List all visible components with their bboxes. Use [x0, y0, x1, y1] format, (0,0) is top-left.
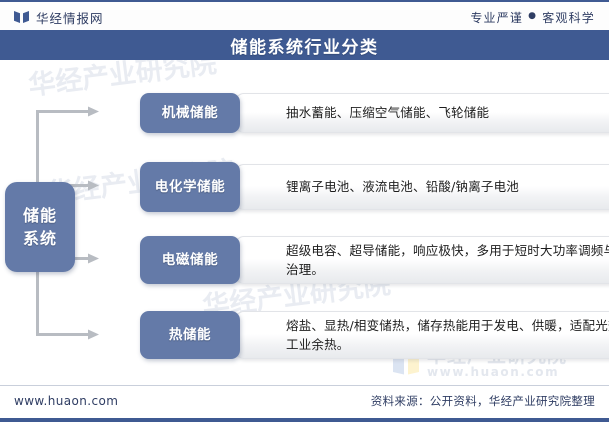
slogan-left: 专业严谨	[470, 9, 523, 26]
footer-source-note: 资料来源：公开资料，华经产业研究院整理	[371, 393, 595, 409]
category-description-panel: 超级电容、超导储能，响应极快，多用于短时大功率调频与电能质量治理。	[235, 236, 609, 284]
page-title: 储能系统行业分类	[231, 33, 379, 58]
category-description-panel: 锂离子电池、液流电池、铅酸/钠离子电池	[235, 164, 609, 210]
category-description: 熔盐、显热/相变储热，储存热能用于发电、供暖，适配光热电站与工业余热。	[236, 316, 609, 355]
category-label-thermal[interactable]: 热储能	[140, 311, 240, 359]
category-row: 抽水蓄能、压缩空气储能、飞轮储能 机械储能	[140, 93, 585, 133]
category-description: 锂离子电池、液流电池、铅酸/钠离子电池	[236, 177, 533, 196]
root-node-label-line1: 储能	[23, 204, 57, 227]
huaon-book-logo-icon	[14, 10, 29, 24]
category-label-mechanical[interactable]: 机械储能	[140, 93, 240, 133]
category-label-text: 机械储能	[156, 104, 224, 122]
category-label-text: 电磁储能	[156, 251, 224, 269]
category-row: 锂离子电池、液流电池、铅酸/钠离子电池 电化学储能	[140, 162, 585, 212]
category-row: 熔盐、显热/相变储热，储存热能用于发电、供暖，适配光热电站与工业余热。 热储能	[140, 311, 585, 359]
diagram-canvas: 华经产业研究院 华经产业研究院 华经产业研究院 华经产业研究院 华经产业研究院 …	[0, 60, 609, 385]
site-slogan: 专业严谨 ● 客观科学	[470, 9, 595, 26]
category-label-text: 热储能	[163, 326, 217, 344]
slogan-dot-icon: ●	[528, 12, 537, 21]
category-description: 抽水蓄能、压缩空气储能、飞轮储能	[236, 103, 503, 122]
title-bar: 储能系统行业分类	[0, 30, 609, 60]
category-description: 超级电容、超导储能，响应极快，多用于短时大功率调频与电能质量治理。	[236, 241, 609, 280]
infographic-page: 华经情报网 专业严谨 ● 客观科学 储能系统行业分类 华经产业研究院 华经产业研…	[0, 0, 609, 425]
site-footer: www.huaon.com 资料来源：公开资料，华经产业研究院整理	[0, 385, 609, 425]
footer-accent-bar	[0, 418, 609, 422]
root-node-storage-system[interactable]: 储能 系统	[5, 182, 75, 272]
brand-name: 华经情报网	[36, 8, 104, 27]
category-label-text: 电化学储能	[149, 178, 232, 196]
category-label-electrochemical[interactable]: 电化学储能	[140, 162, 240, 212]
category-description-panel: 抽水蓄能、压缩空气储能、飞轮储能	[235, 93, 609, 133]
footer-url[interactable]: www.huaon.com	[14, 394, 118, 408]
category-row: 超级电容、超导储能，响应极快，多用于短时大功率调频与电能质量治理。 电磁储能	[140, 236, 585, 284]
category-description-panel: 熔盐、显热/相变储热，储存热能用于发电、供暖，适配光热电站与工业余热。	[235, 311, 609, 359]
root-node-label-line2: 系统	[23, 227, 57, 250]
site-header: 华经情报网 专业严谨 ● 客观科学	[0, 0, 609, 30]
slogan-right: 客观科学	[542, 9, 595, 26]
category-label-electromagnetic[interactable]: 电磁储能	[140, 236, 240, 284]
brand-block: 华经情报网	[14, 8, 104, 27]
